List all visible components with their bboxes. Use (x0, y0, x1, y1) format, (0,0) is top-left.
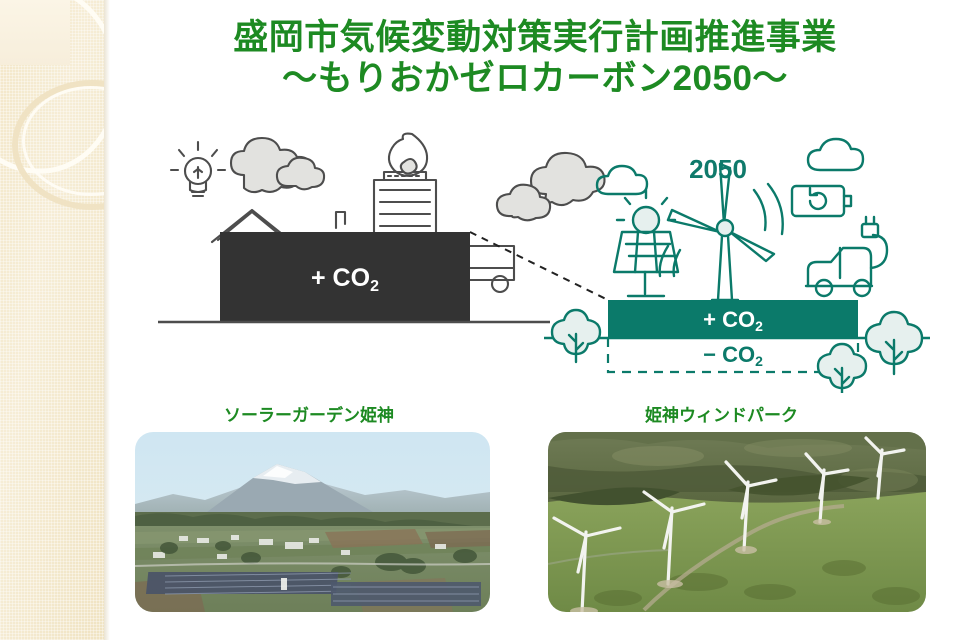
title-line-2: 〜もりおかゼロカーボン2050〜 (110, 59, 960, 100)
lightbulb-icon (171, 142, 225, 196)
wind-turbine-icon (660, 164, 783, 300)
smoke-cloud-icon (497, 153, 605, 220)
flame-icon (389, 134, 427, 176)
electric-car-icon (806, 217, 887, 296)
co2-negative-label: − CO2 (703, 342, 763, 369)
solar-garden-himekami-photo (135, 432, 490, 612)
himekami-wind-park-photo (548, 432, 926, 612)
co2-reduced-label: + CO2 (703, 307, 763, 334)
connector-dashed-line (470, 232, 608, 300)
page-title: 盛岡市気候変動対策実行計画推進事業 〜もりおかゼロカーボン2050〜 (110, 18, 960, 99)
year-2050-label: 2050 (689, 154, 747, 184)
co2-infographic: .gl{fill:none;stroke:#4d4d4d;stroke-widt… (140, 128, 940, 393)
solar-panel-icon (614, 190, 678, 296)
slide-canvas: 盛岡市気候変動対策実行計画推進事業 〜もりおかゼロカーボン2050〜 .gl{f… (0, 0, 960, 640)
title-line-1: 盛岡市気候変動対策実行計画推進事業 (110, 18, 960, 59)
decorative-side-band (0, 0, 104, 640)
battery-recycle-icon (792, 186, 851, 216)
tree-icon (552, 310, 600, 362)
smoke-cloud-icon (231, 138, 324, 192)
co2-emission-label: + CO2 (311, 264, 379, 295)
cloud-icon (808, 139, 863, 170)
tree-icon (866, 312, 922, 374)
caption-wind-park: 姫神ウィンドパーク (645, 401, 798, 426)
caption-solar-garden: ソーラーガーデン姫神 (224, 401, 394, 426)
